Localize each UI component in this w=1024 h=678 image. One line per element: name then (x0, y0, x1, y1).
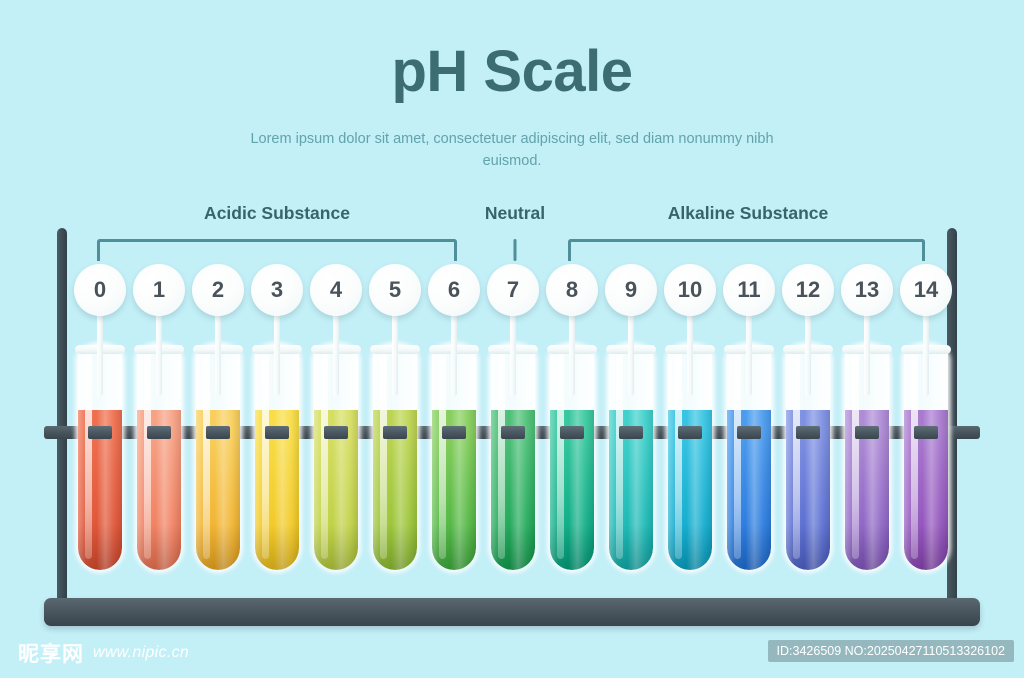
ph-marker-label-4: 4 (310, 264, 362, 316)
tube-highlight (557, 351, 564, 559)
ph-marker-14[interactable]: 14 (900, 264, 952, 316)
page-subtitle: Lorem ipsum dolor sit amet, consectetuer… (232, 128, 792, 173)
ph-marker-4[interactable]: 4 (310, 264, 362, 316)
image-id-badge: ID:3426509 NO:20250427110513326102 (768, 640, 1014, 662)
ph-marker-label-10: 10 (664, 264, 716, 316)
rack-clip-ph-0 (88, 426, 112, 439)
ph-marker-label-5: 5 (369, 264, 421, 316)
rack-clip-ph-2 (206, 426, 230, 439)
ph-marker-stem (215, 310, 221, 396)
rack-clip-ph-6 (442, 426, 466, 439)
tube-highlight (85, 351, 92, 559)
section-bracket-0 (97, 239, 457, 261)
rack-clip-ph-4 (324, 426, 348, 439)
section-bracket-2 (568, 239, 925, 261)
rack-clip-ph-5 (383, 426, 407, 439)
rack-clip-ph-10 (678, 426, 702, 439)
ph-marker-1[interactable]: 1 (133, 264, 185, 316)
rack-clip-ph-13 (855, 426, 879, 439)
rack-clip-ph-7 (501, 426, 525, 439)
ph-marker-label-8: 8 (546, 264, 598, 316)
watermark-url: www.nipic.cn (93, 644, 189, 662)
ph-marker-9[interactable]: 9 (605, 264, 657, 316)
ph-marker-label-7: 7 (487, 264, 539, 316)
ph-marker-stem (864, 310, 870, 396)
ph-marker-label-1: 1 (133, 264, 185, 316)
ph-marker-stem (805, 310, 811, 396)
ph-marker-8[interactable]: 8 (546, 264, 598, 316)
tube-highlight (793, 351, 800, 559)
watermark: 昵享网 www.nipic.cn (18, 638, 189, 668)
ph-marker-label-12: 12 (782, 264, 834, 316)
page-title: pH Scale (0, 42, 1024, 103)
section-label-1: Neutral (485, 203, 545, 224)
section-tick-1 (514, 239, 517, 261)
tube-highlight (852, 351, 859, 559)
ph-marker-10[interactable]: 10 (664, 264, 716, 316)
ph-marker-label-9: 9 (605, 264, 657, 316)
tube-highlight (321, 351, 328, 559)
ph-marker-stem (923, 310, 929, 396)
ph-marker-7[interactable]: 7 (487, 264, 539, 316)
tube-highlight (734, 351, 741, 559)
tube-highlight (911, 351, 918, 559)
watermark-brand: 昵享网 (18, 638, 84, 668)
ph-marker-5[interactable]: 5 (369, 264, 421, 316)
rack-clip-ph-12 (796, 426, 820, 439)
ph-marker-label-13: 13 (841, 264, 893, 316)
ph-marker-11[interactable]: 11 (723, 264, 775, 316)
rack-base (44, 598, 980, 626)
rack-clip-ph-8 (560, 426, 584, 439)
ph-marker-label-2: 2 (192, 264, 244, 316)
ph-marker-stem (333, 310, 339, 396)
ph-marker-stem (746, 310, 752, 396)
ph-marker-12[interactable]: 12 (782, 264, 834, 316)
section-label-2: Alkaline Substance (668, 203, 828, 224)
ph-marker-label-6: 6 (428, 264, 480, 316)
tube-highlight (498, 351, 505, 559)
ph-marker-stem (451, 310, 457, 396)
section-label-0: Acidic Substance (204, 203, 350, 224)
ph-marker-stem (156, 310, 162, 396)
tube-highlight (439, 351, 446, 559)
ph-marker-0[interactable]: 0 (74, 264, 126, 316)
ph-scale-infographic: pH Scale Lorem ipsum dolor sit amet, con… (0, 0, 1024, 678)
tube-highlight (675, 351, 682, 559)
ph-marker-stem (569, 310, 575, 396)
ph-marker-stem (510, 310, 516, 396)
ph-marker-stem (628, 310, 634, 396)
rack-clip-ph-3 (265, 426, 289, 439)
rack-clip-ph-1 (147, 426, 171, 439)
ph-marker-label-14: 14 (900, 264, 952, 316)
ph-marker-3[interactable]: 3 (251, 264, 303, 316)
ph-marker-label-0: 0 (74, 264, 126, 316)
rack-clip-ph-14 (914, 426, 938, 439)
ph-marker-label-3: 3 (251, 264, 303, 316)
rack-post-left (57, 228, 67, 606)
ph-marker-stem (392, 310, 398, 396)
ph-marker-13[interactable]: 13 (841, 264, 893, 316)
tube-highlight (380, 351, 387, 559)
ph-marker-stem (274, 310, 280, 396)
ph-marker-stem (687, 310, 693, 396)
rack-clip-ph-9 (619, 426, 643, 439)
ph-marker-2[interactable]: 2 (192, 264, 244, 316)
ph-marker-stem (97, 310, 103, 396)
ph-marker-label-11: 11 (723, 264, 775, 316)
tube-highlight (262, 351, 269, 559)
rack-clip-ph-11 (737, 426, 761, 439)
tube-highlight (203, 351, 210, 559)
ph-marker-6[interactable]: 6 (428, 264, 480, 316)
tube-highlight (144, 351, 151, 559)
tube-highlight (616, 351, 623, 559)
